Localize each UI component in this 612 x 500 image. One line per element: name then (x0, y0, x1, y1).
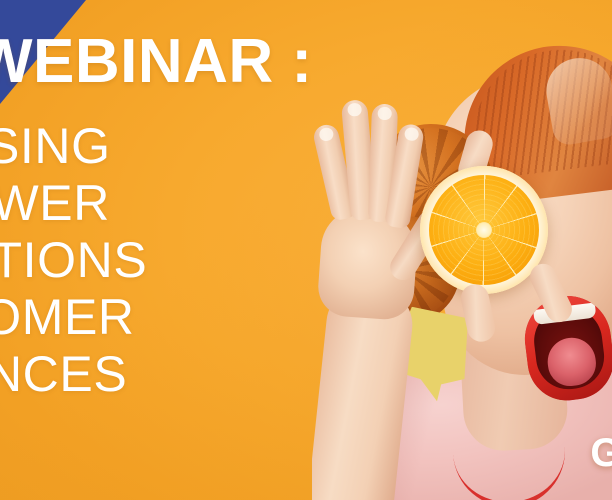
subheadline-line-2: OWER (0, 175, 432, 232)
subheadline-line-5: ENCES (0, 346, 432, 403)
brand-logo-mark: G (590, 431, 612, 476)
subheadline-line-4: TOMER (0, 289, 432, 346)
subheadline-line-3: OTIONS (0, 232, 432, 289)
orange-core (476, 222, 492, 238)
subheadline-line-1: SSING (0, 118, 432, 175)
headline: WEBINAR : (0, 31, 313, 93)
subheadline: SSING OWER OTIONS TOMER ENCES (0, 118, 432, 403)
webinar-promo-banner: WEBINAR : SSING OWER OTIONS TOMER ENCES … (0, 0, 612, 500)
text-overlay: WEBINAR : SSING OWER OTIONS TOMER ENCES (0, 0, 430, 500)
